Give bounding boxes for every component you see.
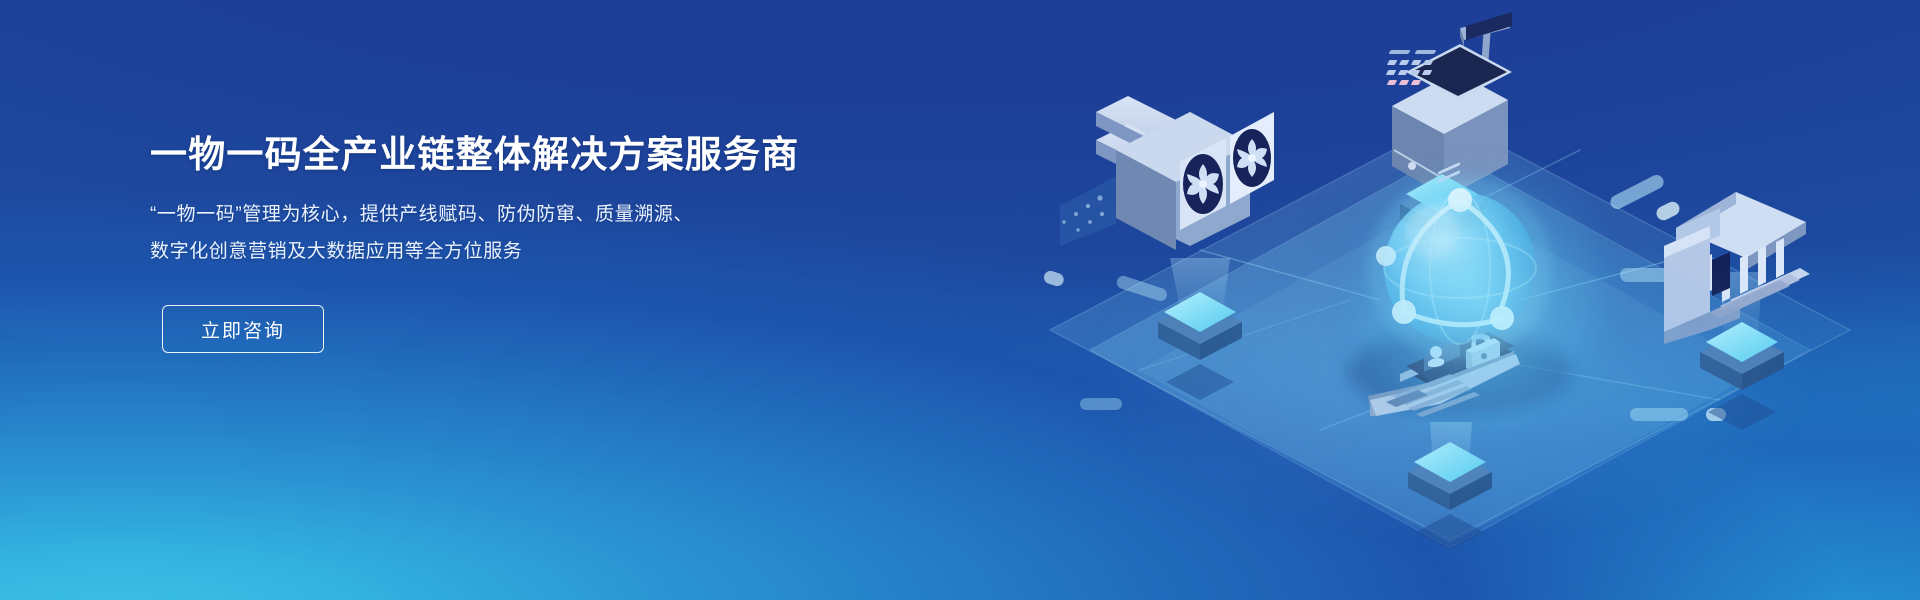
illustration-svg	[1020, 0, 1920, 600]
banner-subtitle-line-1: “一物一码”管理为核心，提供产线赋码、防伪防窜、质量溯源、	[150, 196, 890, 233]
banner-headline: 一物一码全产业链整体解决方案服务商	[150, 132, 890, 178]
isometric-illustration	[1020, 0, 1920, 600]
banner-copy: 一物一码全产业链整体解决方案服务商 “一物一码”管理为核心，提供产线赋码、防伪防…	[150, 132, 890, 353]
airflow-particles	[1060, 176, 1116, 246]
consult-now-button[interactable]: 立即咨询	[162, 305, 324, 353]
hero-banner: 一物一码全产业链整体解决方案服务商 “一物一码”管理为核心，提供产线赋码、防伪防…	[0, 0, 1920, 600]
network-sphere-icon	[1368, 176, 1552, 360]
banner-subtitle: “一物一码”管理为核心，提供产线赋码、防伪防窜、质量溯源、 数字化创意营销及大数…	[150, 196, 890, 270]
banner-subtitle-line-2: 数字化创意营销及大数据应用等全方位服务	[150, 233, 890, 270]
